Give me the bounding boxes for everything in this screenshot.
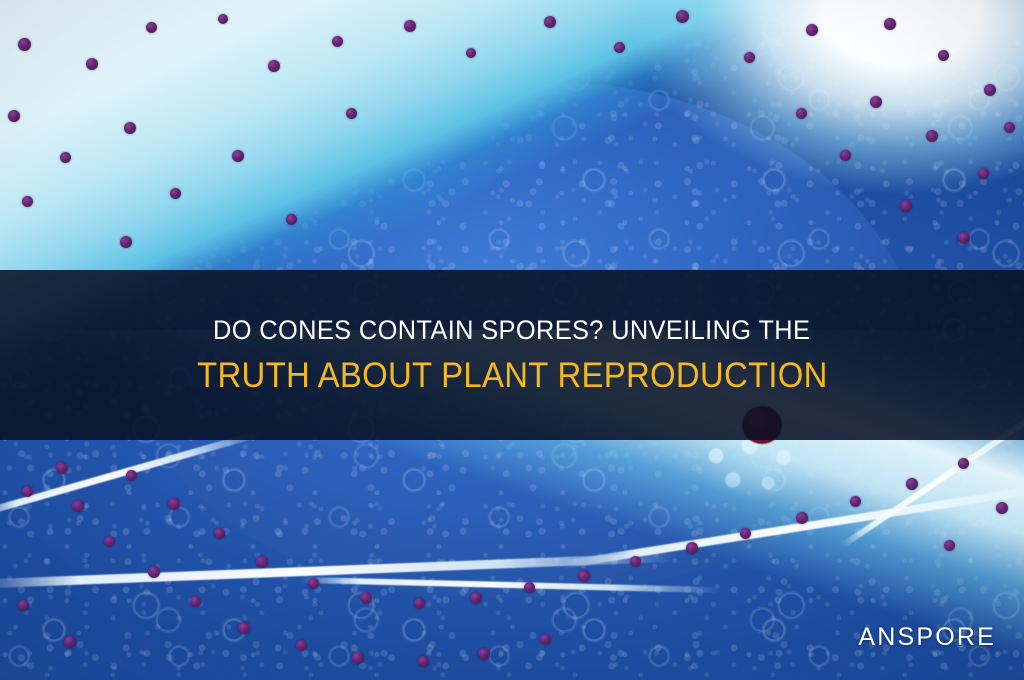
- page-title-line-1: DO CONES CONTAIN SPORES? UNVEILING THE: [213, 315, 810, 346]
- brand-watermark: ANSPORE: [858, 623, 996, 652]
- title-overlay-band: DO CONES CONTAIN SPORES? UNVEILING THE T…: [0, 270, 1024, 440]
- page-title-line-2: TRUTH ABOUT PLANT REPRODUCTION: [197, 356, 828, 395]
- hero-image: DO CONES CONTAIN SPORES? UNVEILING THE T…: [0, 0, 1024, 680]
